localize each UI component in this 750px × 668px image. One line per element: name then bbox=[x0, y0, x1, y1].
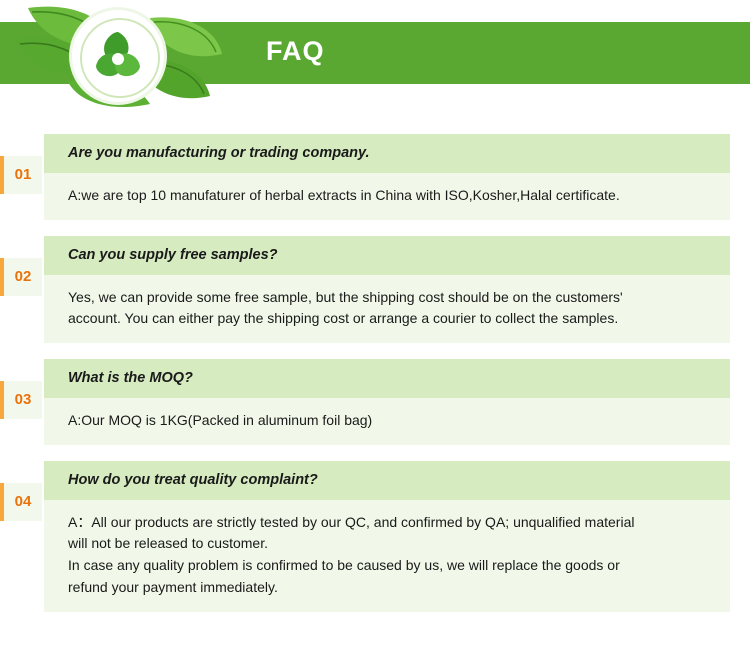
faq-answer-line: account. You can either pay the shipping… bbox=[68, 308, 714, 330]
faq-answer-line: Yes, we can provide some free sample, bu… bbox=[68, 287, 714, 309]
faq-number-badge: 01 bbox=[0, 156, 42, 194]
faq-question: Can you supply free samples? bbox=[44, 236, 730, 275]
faq-question: How do you treat quality complaint? bbox=[44, 461, 730, 500]
faq-answer-line: In case any quality problem is confirmed… bbox=[68, 555, 714, 577]
faq-item: 01 Are you manufacturing or trading comp… bbox=[0, 134, 750, 220]
faq-list: 01 Are you manufacturing or trading comp… bbox=[0, 110, 750, 612]
faq-question: Are you manufacturing or trading company… bbox=[44, 134, 730, 173]
faq-answer-line: A：All our products are strictly tested b… bbox=[68, 512, 714, 534]
faq-number-badge: 02 bbox=[0, 258, 42, 296]
faq-question: What is the MOQ? bbox=[44, 359, 730, 398]
faq-number-badge: 03 bbox=[0, 381, 42, 419]
faq-item: 02 Can you supply free samples? Yes, we … bbox=[0, 236, 750, 343]
faq-answer: A:we are top 10 manufaturer of herbal ex… bbox=[44, 173, 730, 220]
faq-answer: Yes, we can provide some free sample, bu… bbox=[44, 275, 730, 343]
logo-mark-icon bbox=[88, 26, 148, 86]
faq-answer-line: A:we are top 10 manufaturer of herbal ex… bbox=[68, 185, 714, 207]
page-header: FAQ bbox=[0, 0, 750, 110]
faq-answer: A：All our products are strictly tested b… bbox=[44, 500, 730, 612]
page-title: FAQ bbox=[266, 36, 325, 67]
faq-item: 03 What is the MOQ? A:Our MOQ is 1KG(Pac… bbox=[0, 359, 750, 445]
faq-number-badge: 04 bbox=[0, 483, 42, 521]
faq-item: 04 How do you treat quality complaint? A… bbox=[0, 461, 750, 612]
faq-answer-line: will not be released to customer. bbox=[68, 533, 714, 555]
leaf-logo bbox=[10, 0, 240, 110]
faq-answer: A:Our MOQ is 1KG(Packed in aluminum foil… bbox=[44, 398, 730, 445]
faq-answer-line: refund your payment immediately. bbox=[68, 577, 714, 599]
faq-answer-line: A:Our MOQ is 1KG(Packed in aluminum foil… bbox=[68, 410, 714, 432]
